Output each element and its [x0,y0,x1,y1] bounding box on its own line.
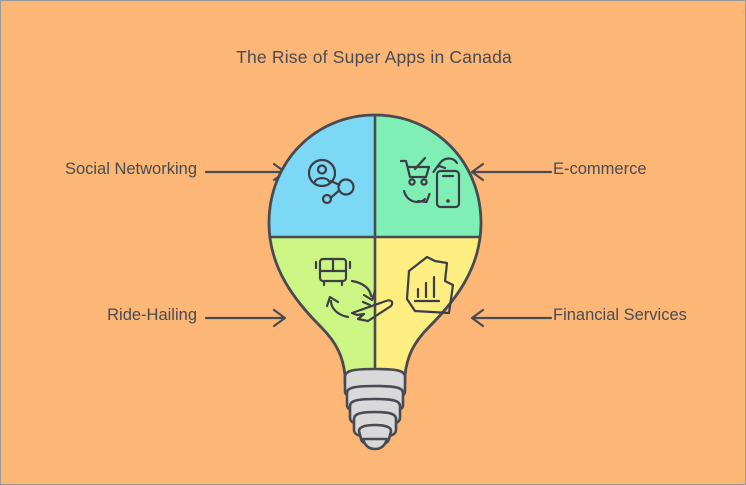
label-ride-hailing: Ride-Hailing [1,306,197,325]
infographic-canvas: The Rise of Super Apps in Canada Social … [0,0,746,485]
label-social-networking: Social Networking [1,160,197,179]
lightbulb-quadrant-diagram [253,105,497,455]
bulb-screw-base [345,369,405,449]
label-e-commerce: E-commerce [553,160,746,179]
page-title: The Rise of Super Apps in Canada [1,47,746,68]
label-financial-services: Financial Services [553,306,746,325]
